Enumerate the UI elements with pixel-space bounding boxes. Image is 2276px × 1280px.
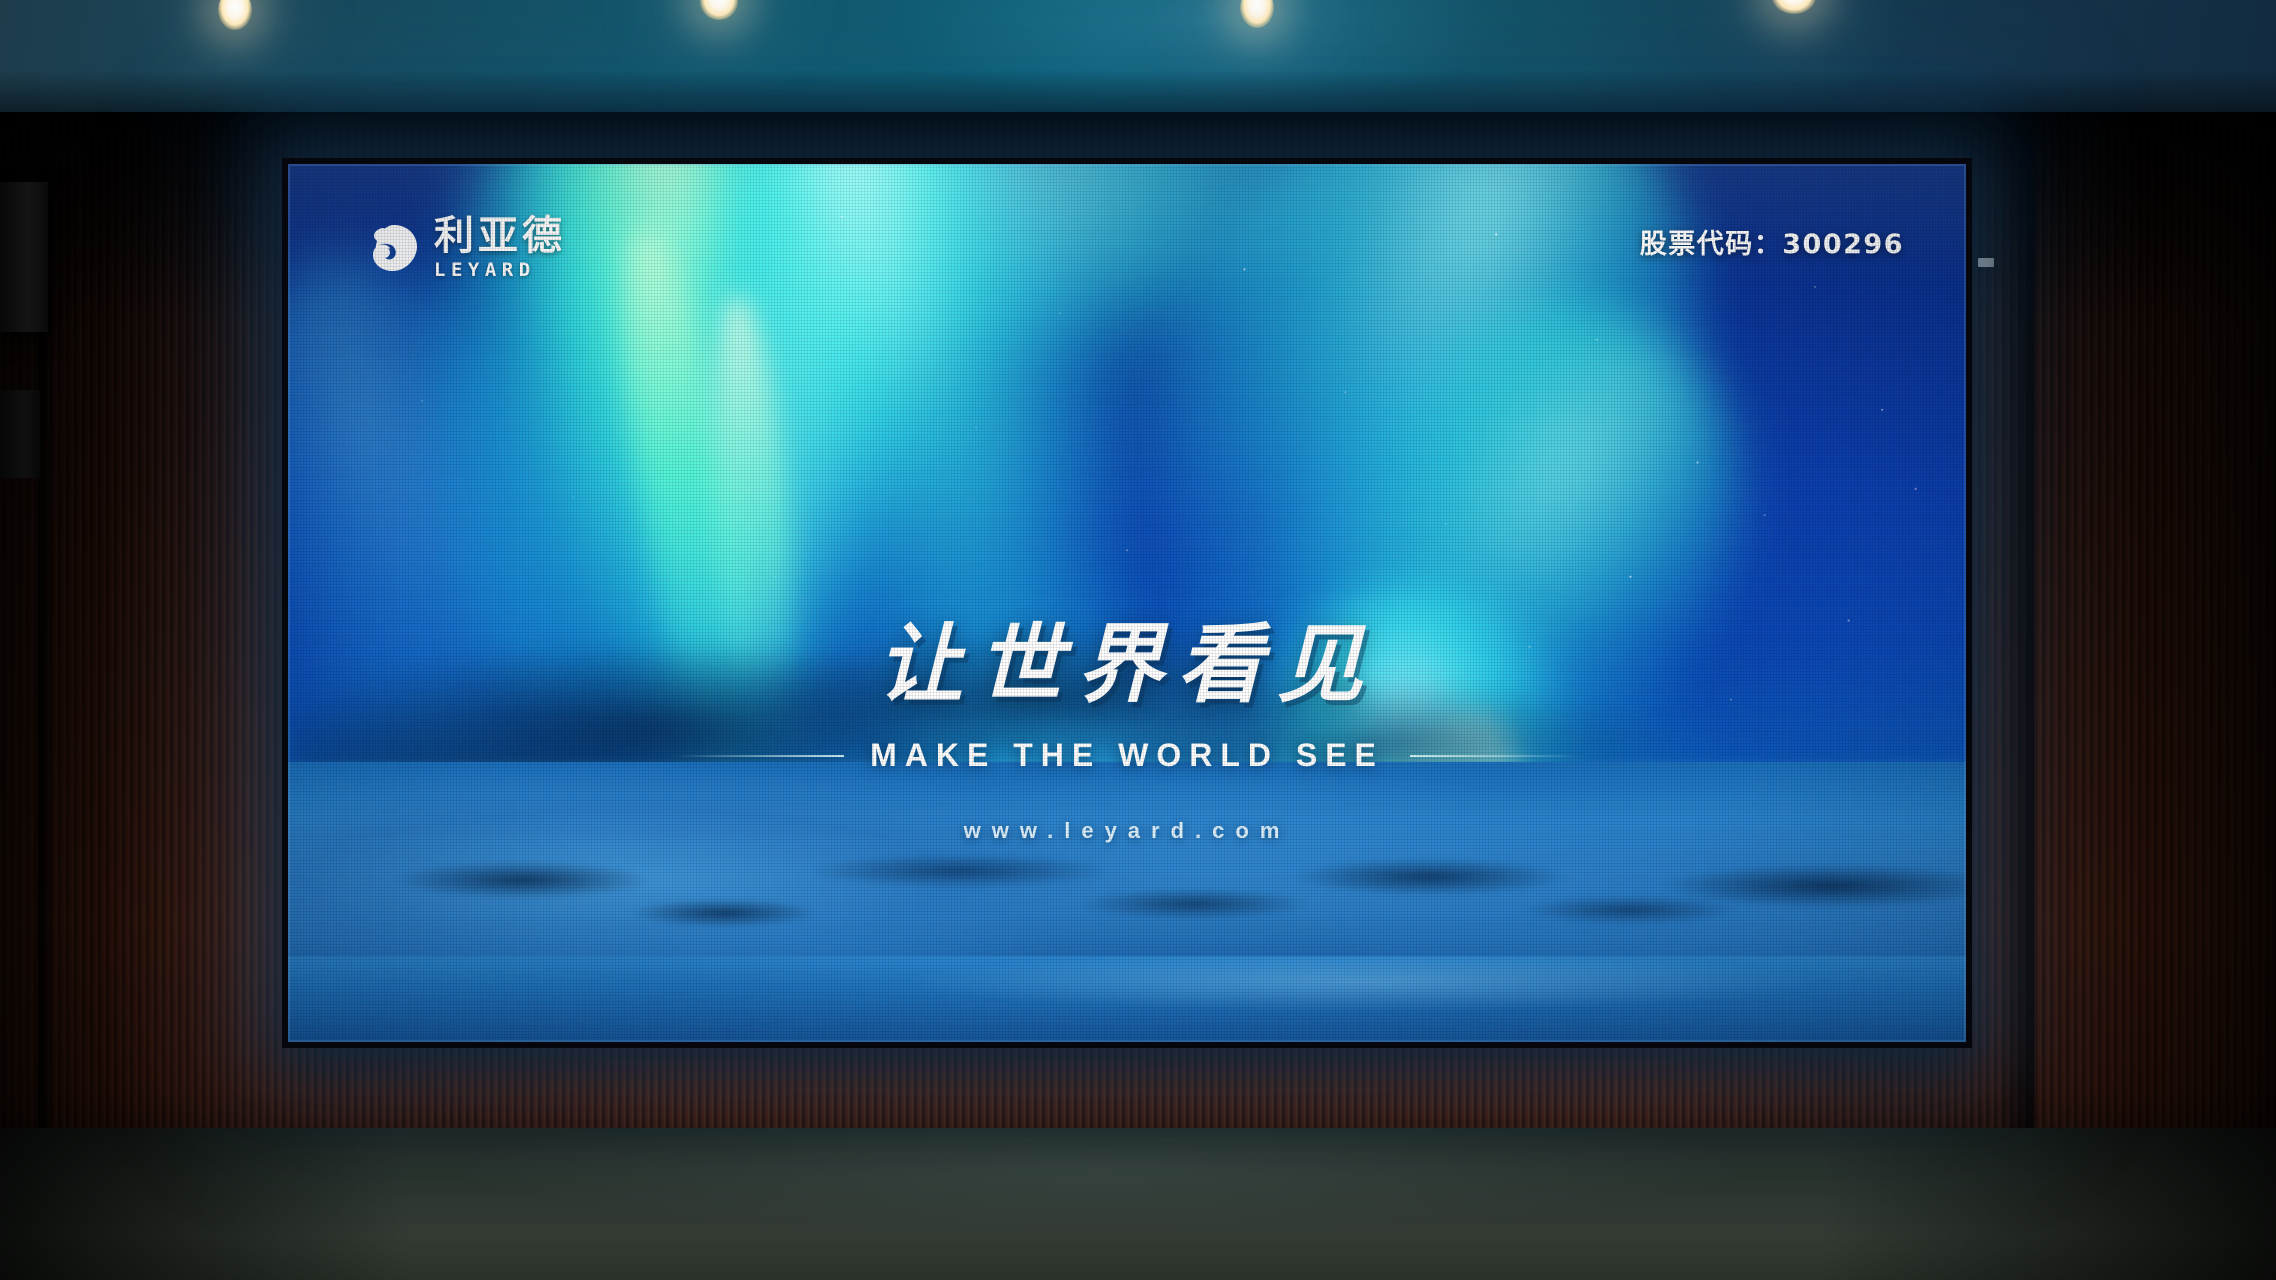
leyard-droplet-swirl-logo-icon <box>366 222 420 274</box>
wall-speaker-icon <box>0 390 40 478</box>
floor-sheen <box>0 1128 2276 1280</box>
stock-code-label: 股票代码：300296 <box>1640 222 1904 261</box>
mount-bracket-icon <box>1978 258 1994 267</box>
wall-speaker-icon <box>0 182 50 332</box>
wall-right-pillar <box>2000 118 2034 1136</box>
artwork-water-sheen <box>288 956 1966 1042</box>
subheadline-row: MAKE THE WORLD SEE <box>674 737 1580 774</box>
led-video-wall-screen[interactable]: 利亚德 LEYARD 股票代码：300296 让世界看见 MAKE THE WO… <box>288 164 1966 1042</box>
slogan-block: 让世界看见 MAKE THE WORLD SEE www.leyard.com <box>288 594 1966 844</box>
headline-en: MAKE THE WORLD SEE <box>870 737 1384 774</box>
led-video-wall-bezel: 利亚德 LEYARD 股票代码：300296 让世界看见 MAKE THE WO… <box>282 158 1972 1048</box>
rule-right-icon <box>1410 755 1580 757</box>
brand-logo-text: 利亚德 LEYARD <box>434 216 566 280</box>
brand-logo: 利亚德 LEYARD <box>366 216 566 280</box>
brand-name-cn: 利亚德 <box>434 216 566 256</box>
website-url: www.leyard.com <box>964 818 1291 844</box>
rule-left-icon <box>674 755 844 757</box>
headline-cn: 让世界看见 <box>877 594 1377 719</box>
room-scene: 利亚德 LEYARD 股票代码：300296 让世界看见 MAKE THE WO… <box>0 0 2276 1280</box>
brand-name-en: LEYARD <box>434 261 566 280</box>
